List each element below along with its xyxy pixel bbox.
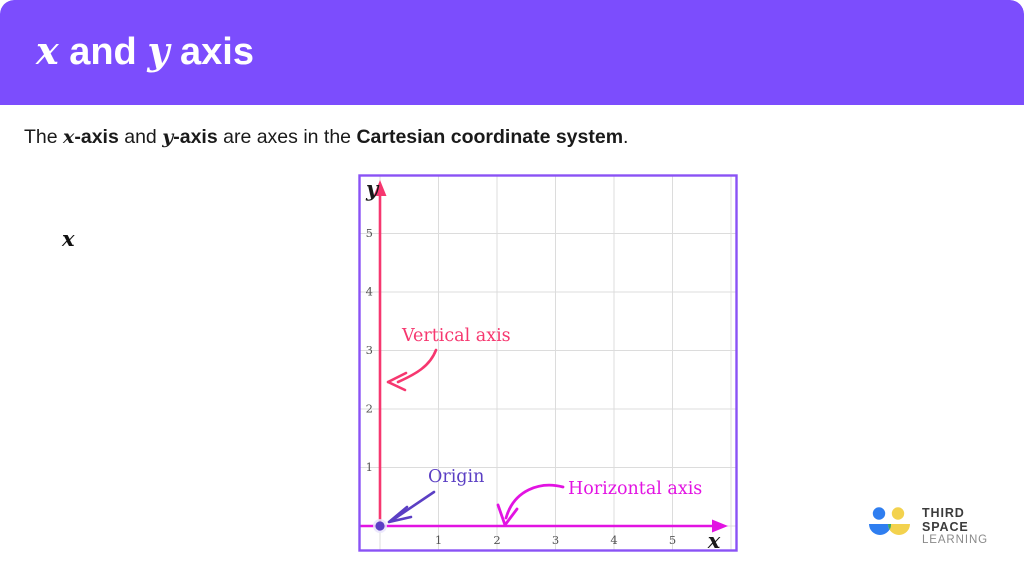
intro-part-5: are axes in the	[218, 126, 357, 148]
logo-line-2: LEARNING	[922, 534, 994, 547]
x-tick-label-2: 2	[493, 533, 500, 547]
intro-var-y: y	[162, 126, 173, 148]
intro-part-1: The	[24, 126, 63, 148]
intro-part-4: -axis	[173, 126, 217, 148]
coordinate-graph: 1 2 3 4 5 1 2 3 4 5 y x Vertical axis	[358, 174, 738, 552]
brand-logo: THIRD SPACE LEARNING	[866, 503, 994, 545]
y-tick-label-2: 2	[366, 402, 373, 416]
x-tick-label-5: 5	[669, 533, 676, 547]
intro-var-x: x	[63, 126, 74, 148]
logo-line-1: THIRD SPACE	[922, 506, 994, 534]
x-axis-label: x	[707, 528, 721, 552]
y-axis-label: y	[365, 176, 380, 201]
title-var-y: y	[147, 28, 169, 73]
intro-part-6: .	[623, 126, 628, 148]
x-tick-label-3: 3	[552, 533, 559, 547]
title-var-x: x	[36, 28, 59, 73]
slide-page: x and y axis The x-axis and y-axis are a…	[0, 0, 1024, 580]
y-tick-label-5: 5	[366, 226, 373, 240]
title-suffix: axis	[169, 31, 254, 73]
x-tick-label-1: 1	[435, 533, 442, 547]
x-tick-label-4: 4	[610, 533, 617, 547]
y-tick-label-3: 3	[366, 343, 373, 357]
logo-text: THIRD SPACE LEARNING	[922, 506, 994, 547]
annotation-vertical-axis-label: Vertical axis	[401, 326, 511, 346]
header-banner: x and y axis	[0, 0, 1024, 105]
intro-bold-term: Cartesian coordinate system	[356, 126, 623, 148]
y-tick-label-4: 4	[366, 285, 373, 299]
intro-part-3: and	[119, 126, 162, 148]
intro-part-2: -axis	[74, 126, 118, 148]
logo-mark-icon	[866, 507, 916, 541]
y-tick-label-1: 1	[366, 460, 373, 474]
annotation-origin-label: Origin	[428, 467, 484, 487]
page-title: x and y axis	[36, 28, 254, 74]
origin-point	[373, 519, 387, 533]
title-conjunction: and	[59, 31, 148, 73]
left-x-symbol: x	[62, 226, 75, 251]
intro-sentence: The x-axis and y-axis are axes in the Ca…	[24, 126, 628, 149]
annotation-horizontal-axis-label: Horizontal axis	[568, 479, 702, 499]
